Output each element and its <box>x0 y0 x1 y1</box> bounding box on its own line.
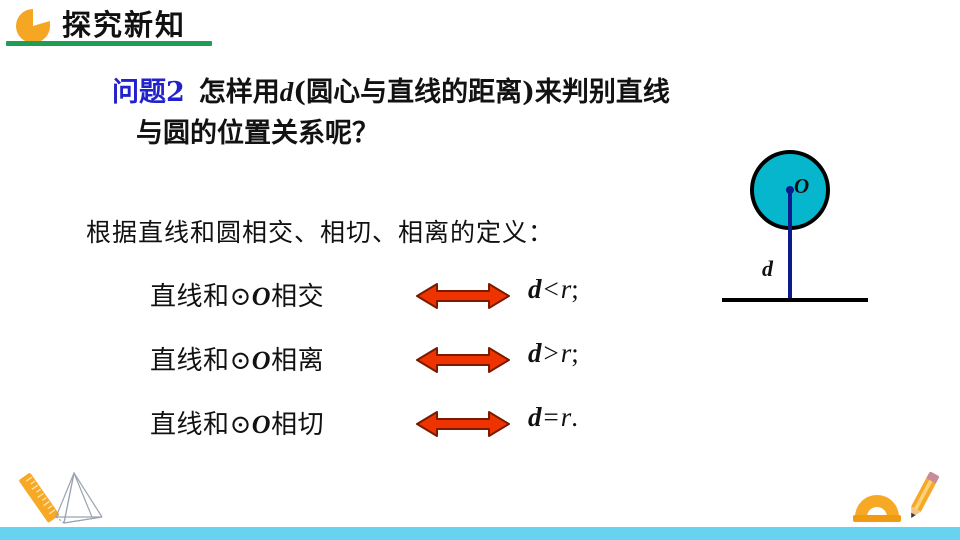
relation-right-expression: d>r; <box>528 338 579 369</box>
relation-operator: = <box>542 402 561 432</box>
question-block: 问题2怎样用d(圆心与直线的距离)来判别直线 与圆的位置关系呢？ <box>112 72 912 154</box>
relation-left-text: 直线和⊙O相离 <box>150 340 324 377</box>
question-label: 问题2 <box>112 77 185 108</box>
double-headed-arrow-icon <box>415 346 511 374</box>
relation-right-expression: d=r. <box>528 402 578 433</box>
relation-operator: < <box>542 274 561 304</box>
relation-punctuation: ; <box>571 338 579 368</box>
question-line-1-part-a: 怎样用 <box>199 77 280 108</box>
relation-row: 直线和⊙O相切 d=r. <box>150 404 670 468</box>
protractor-icon <box>853 495 901 522</box>
decoration-left-group <box>6 465 116 527</box>
slide-header: 探究新知 <box>0 0 320 55</box>
double-headed-arrow-icon <box>415 410 511 438</box>
relation-left-prefix: 直线和⊙ <box>150 346 252 376</box>
relation-left-prefix: 直线和⊙ <box>150 282 252 312</box>
diagram-label-center: O <box>794 174 809 199</box>
pyramid-wireframe-icon <box>56 473 102 523</box>
ruler-icon <box>18 472 59 523</box>
diagram-label-distance: d <box>762 256 773 282</box>
relation-left-suffix: 相离 <box>271 346 324 376</box>
question-variable-d: d <box>280 77 294 107</box>
relation-left-suffix: 相交 <box>271 282 324 312</box>
double-headed-arrow-icon <box>415 282 511 310</box>
relation-var-r: r <box>561 338 572 368</box>
question-line-1: 问题2怎样用d(圆心与直线的距离)来判别直线 <box>112 72 912 113</box>
relation-left-prefix: 直线和⊙ <box>150 410 252 440</box>
slide-canvas: 探究新知 问题2怎样用d(圆心与直线的距离)来判别直线 与圆的位置关系呢？ 根据… <box>0 0 960 540</box>
relation-var-d: d <box>528 338 542 368</box>
decoration-right-group <box>843 469 948 527</box>
header-underline <box>6 41 212 46</box>
page-title: 探究新知 <box>62 2 186 44</box>
relation-left-suffix: 相切 <box>271 410 324 440</box>
relation-circle-name: O <box>252 410 271 439</box>
pie-chart-icon <box>14 7 52 45</box>
relation-circle-name: O <box>252 346 271 375</box>
relation-operator: > <box>542 338 561 368</box>
relation-var-r: r <box>561 274 572 304</box>
relation-var-r: r <box>561 402 572 432</box>
relation-circle-name: O <box>252 282 271 311</box>
relation-left-text: 直线和⊙O相交 <box>150 276 324 313</box>
relation-var-d: d <box>528 402 542 432</box>
question-line-1-part-b: (圆心与直线的距离)来判别直线 <box>293 77 670 108</box>
relation-punctuation: ; <box>571 274 579 304</box>
relation-right-expression: d<r; <box>528 274 579 305</box>
relation-row: 直线和⊙O相离 d>r; <box>150 340 670 404</box>
relation-left-text: 直线和⊙O相切 <box>150 404 324 441</box>
relation-punctuation: . <box>571 402 578 432</box>
relation-var-d: d <box>528 274 542 304</box>
relation-list: 直线和⊙O相交 d<r; 直线和⊙O相离 d>r; <box>150 276 670 468</box>
pencil-icon <box>906 471 939 520</box>
circle-line-diagram: O d <box>718 148 928 318</box>
relation-row: 直线和⊙O相交 d<r; <box>150 276 670 340</box>
premise-text: 根据直线和圆相交、相切、相离的定义： <box>86 213 554 249</box>
diagram-center-point <box>786 186 794 194</box>
bottom-accent-bar <box>0 527 960 540</box>
